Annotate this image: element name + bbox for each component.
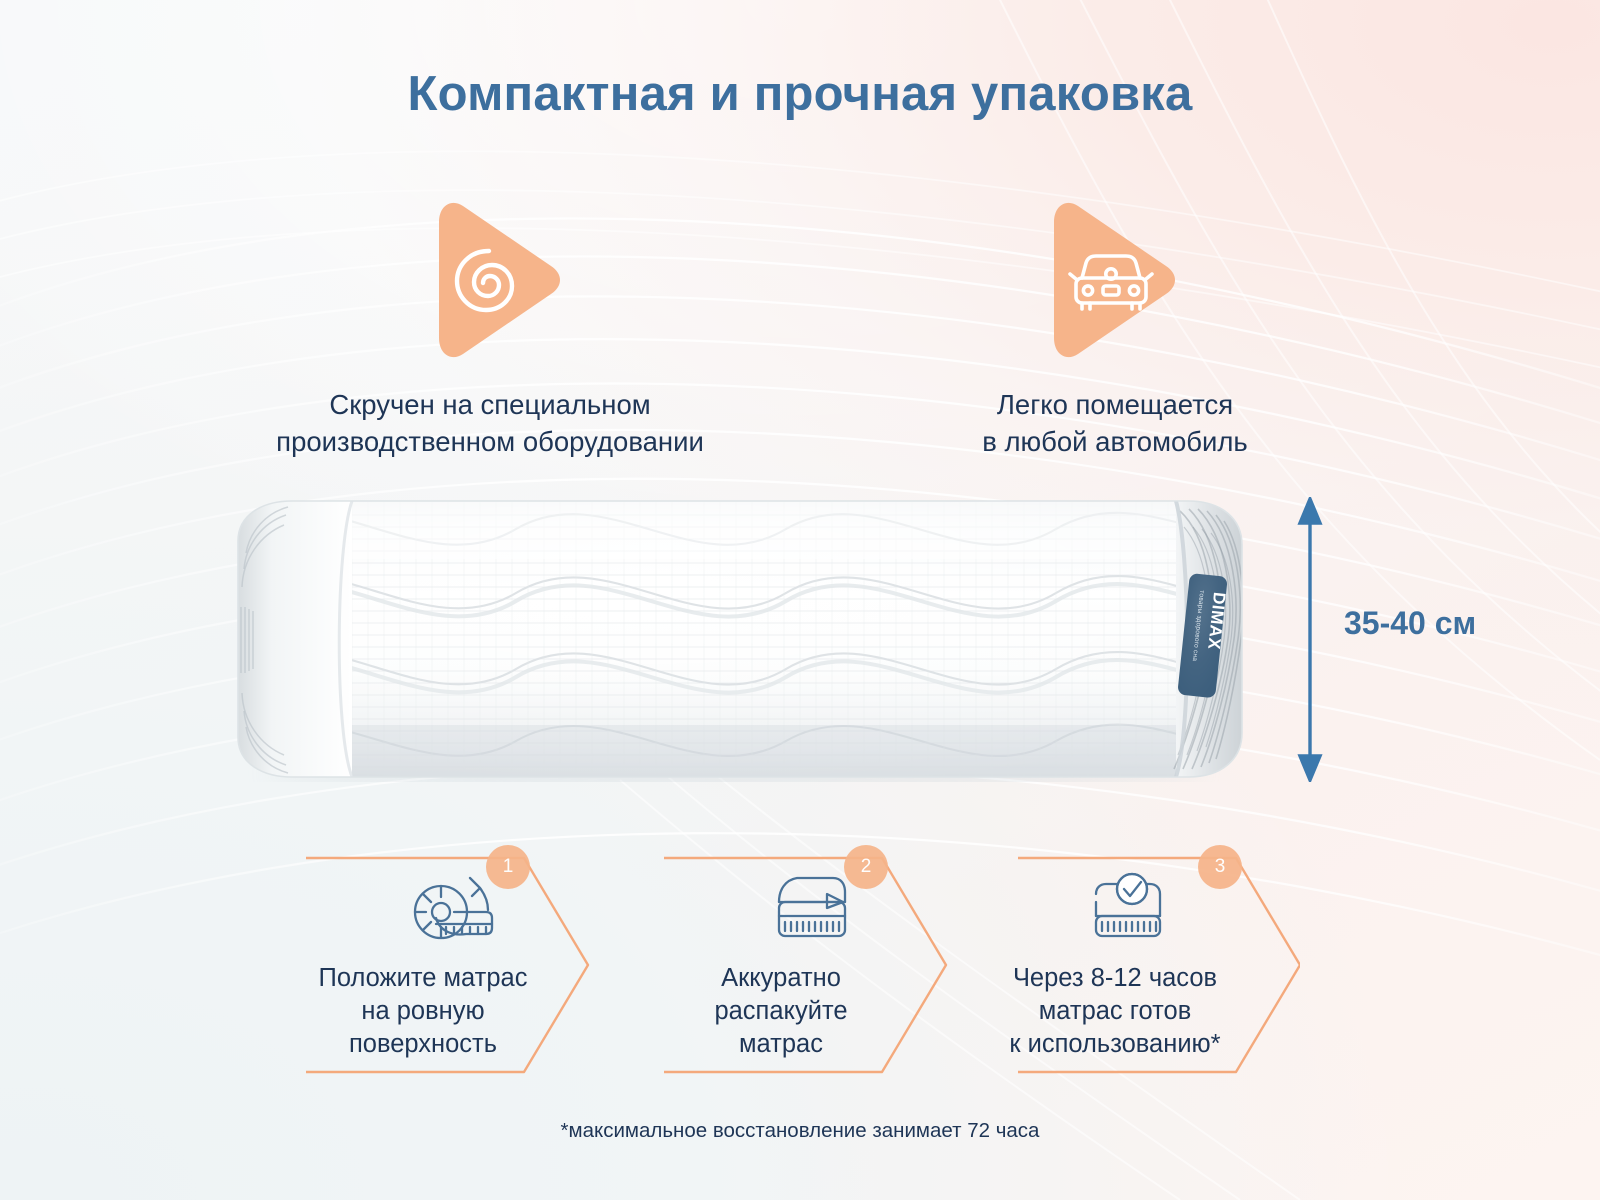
step-card-3: 3 Через 8-12 часов матрас готов к исполь… — [970, 840, 1300, 1090]
mattress-unwrap-icon — [771, 872, 851, 949]
steps-row: 1 Положите матрас на ровную поверхность — [288, 840, 1298, 1090]
dimension-label: 35-40 см — [1344, 605, 1564, 642]
rolled-mattress-image: DIMAX товары здорового сна — [176, 497, 1276, 782]
footnote-text: *максимальное восстановление занимает 72… — [0, 1119, 1600, 1143]
spiral-roll-icon — [155, 200, 825, 365]
step-card-1: 1 Положите матрас на ровную поверхность — [288, 840, 618, 1090]
feature-block-rolled: Скручен на специальном производственном … — [155, 200, 825, 461]
page-title: Компактная и прочная упаковка — [0, 66, 1600, 122]
step-card-2: 2 Аккуратно распакуйте матрас — [646, 840, 976, 1090]
step-caption: Аккуратно распакуйте матрас — [636, 962, 926, 1061]
mattress-check-icon — [1088, 872, 1168, 949]
feature-caption: Скручен на специальном производственном … — [155, 387, 825, 461]
rolled-mattress-unroll-icon — [410, 872, 496, 957]
step-caption: Положите матрас на ровную поверхность — [278, 962, 568, 1061]
car-front-icon — [855, 200, 1375, 365]
step-caption: Через 8-12 часов матрас готов к использо… — [955, 962, 1275, 1061]
feature-block-car: Легко помещается в любой автомобиль — [855, 200, 1375, 461]
dimension-indicator: 35-40 см — [1290, 497, 1570, 782]
feature-caption: Легко помещается в любой автомобиль — [855, 387, 1375, 461]
step-number-badge: 3 — [1198, 845, 1242, 889]
infographic-canvas: Компактная и прочная упаковка Скручен на… — [0, 0, 1600, 1200]
